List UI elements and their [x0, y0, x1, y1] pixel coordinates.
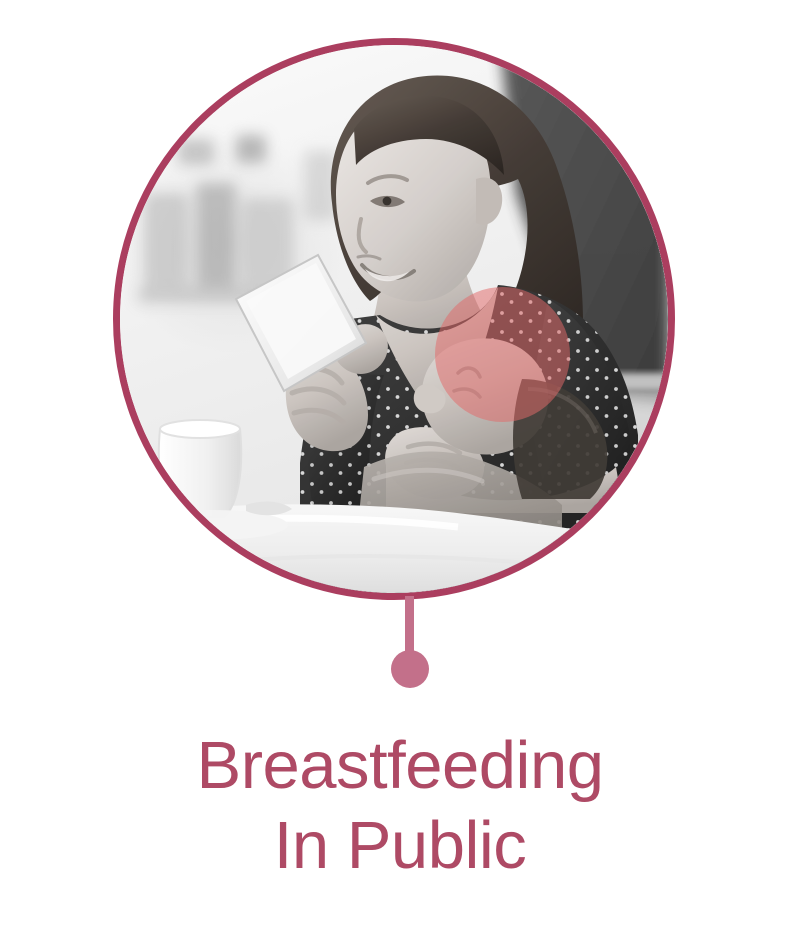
photo-clip [120, 45, 668, 593]
pin-dot [391, 650, 429, 688]
circular-photo-medallion[interactable] [113, 38, 675, 600]
mother-and-baby-photo [120, 45, 668, 593]
page-title: Breastfeeding In Public [0, 726, 800, 886]
pin-stem [405, 596, 414, 658]
page-title-line-2: In Public [0, 806, 800, 886]
breastfeeding-in-public-card: Breastfeeding In Public [0, 0, 800, 950]
page-title-line-1: Breastfeeding [0, 726, 800, 806]
